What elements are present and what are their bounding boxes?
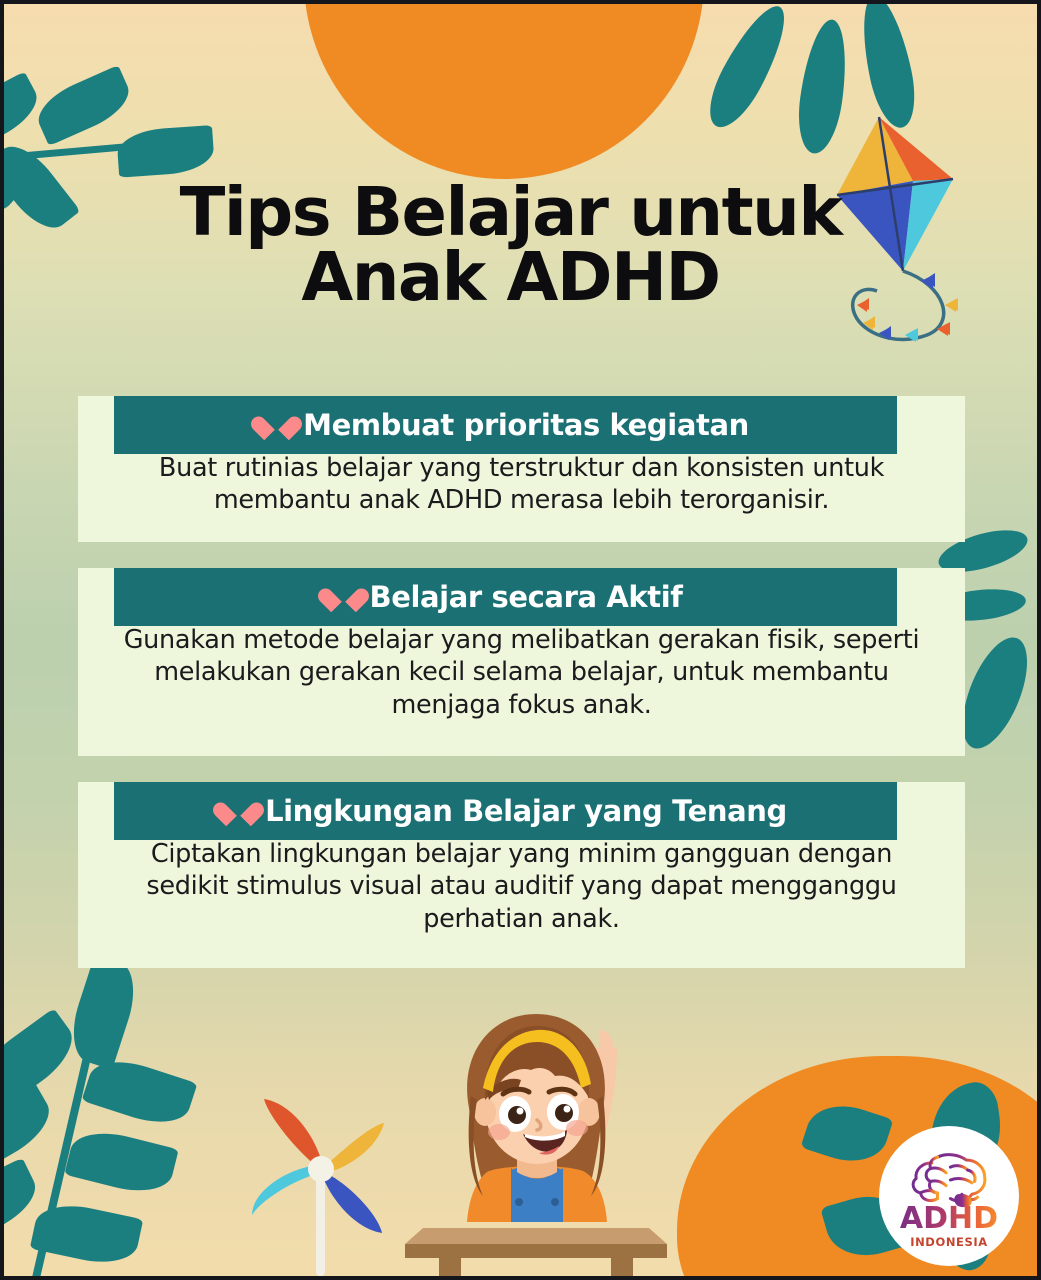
tip-card-heading: Lingkungan Belajar yang Tenang <box>265 794 787 828</box>
heart-icon <box>224 797 253 824</box>
tip-card-header: Lingkungan Belajar yang Tenang <box>114 782 897 840</box>
tip-card: Membuat prioritas kegiatan Buat rutinias… <box>4 396 1037 542</box>
leaf-branch-bottom-left-icon <box>0 996 259 1280</box>
tip-card-heading: Membuat prioritas kegiatan <box>303 408 749 442</box>
title-line-2: Anak ADHD <box>104 245 917 310</box>
pinwheel-icon <box>232 1081 412 1276</box>
leaf-icon <box>698 0 798 136</box>
leaf-icon <box>116 125 215 178</box>
tip-card-header: Belajar secara Aktif <box>114 568 897 626</box>
orange-circle-top <box>304 0 704 179</box>
tip-card: Lingkungan Belajar yang Tenang Ciptakan … <box>4 782 1037 968</box>
tip-card-heading: Belajar secara Aktif <box>370 580 683 614</box>
page-title: Tips Belajar untuk Anak ADHD <box>4 180 1037 310</box>
leaf-cluster-top-right-icon <box>717 0 1017 114</box>
infographic-poster: Tips Belajar untuk Anak ADHD Membuat pri… <box>0 0 1041 1280</box>
adhd-indonesia-logo: ADHD INDONESIA <box>879 1126 1019 1266</box>
heart-icon <box>329 583 358 610</box>
tip-card-text: Gunakan metode belajar yang melibatkan g… <box>116 624 927 720</box>
girl-raising-hand-illustration <box>399 996 674 1276</box>
tip-card-text: Buat rutinias belajar yang terstruktur d… <box>116 452 927 516</box>
tips-list: Membuat prioritas kegiatan Buat rutinias… <box>4 396 1037 994</box>
logo-wordmark: ADHD <box>900 1204 998 1234</box>
heart-icon <box>262 411 291 438</box>
tip-card-header: Membuat prioritas kegiatan <box>114 396 897 454</box>
logo-subtitle: INDONESIA <box>910 1235 988 1249</box>
tip-card: Belajar secara Aktif Gunakan metode bela… <box>4 568 1037 756</box>
tip-card-text: Ciptakan lingkungan belajar yang minim g… <box>116 838 927 934</box>
leaf-icon <box>30 65 136 146</box>
leaf-icon <box>64 1124 178 1200</box>
